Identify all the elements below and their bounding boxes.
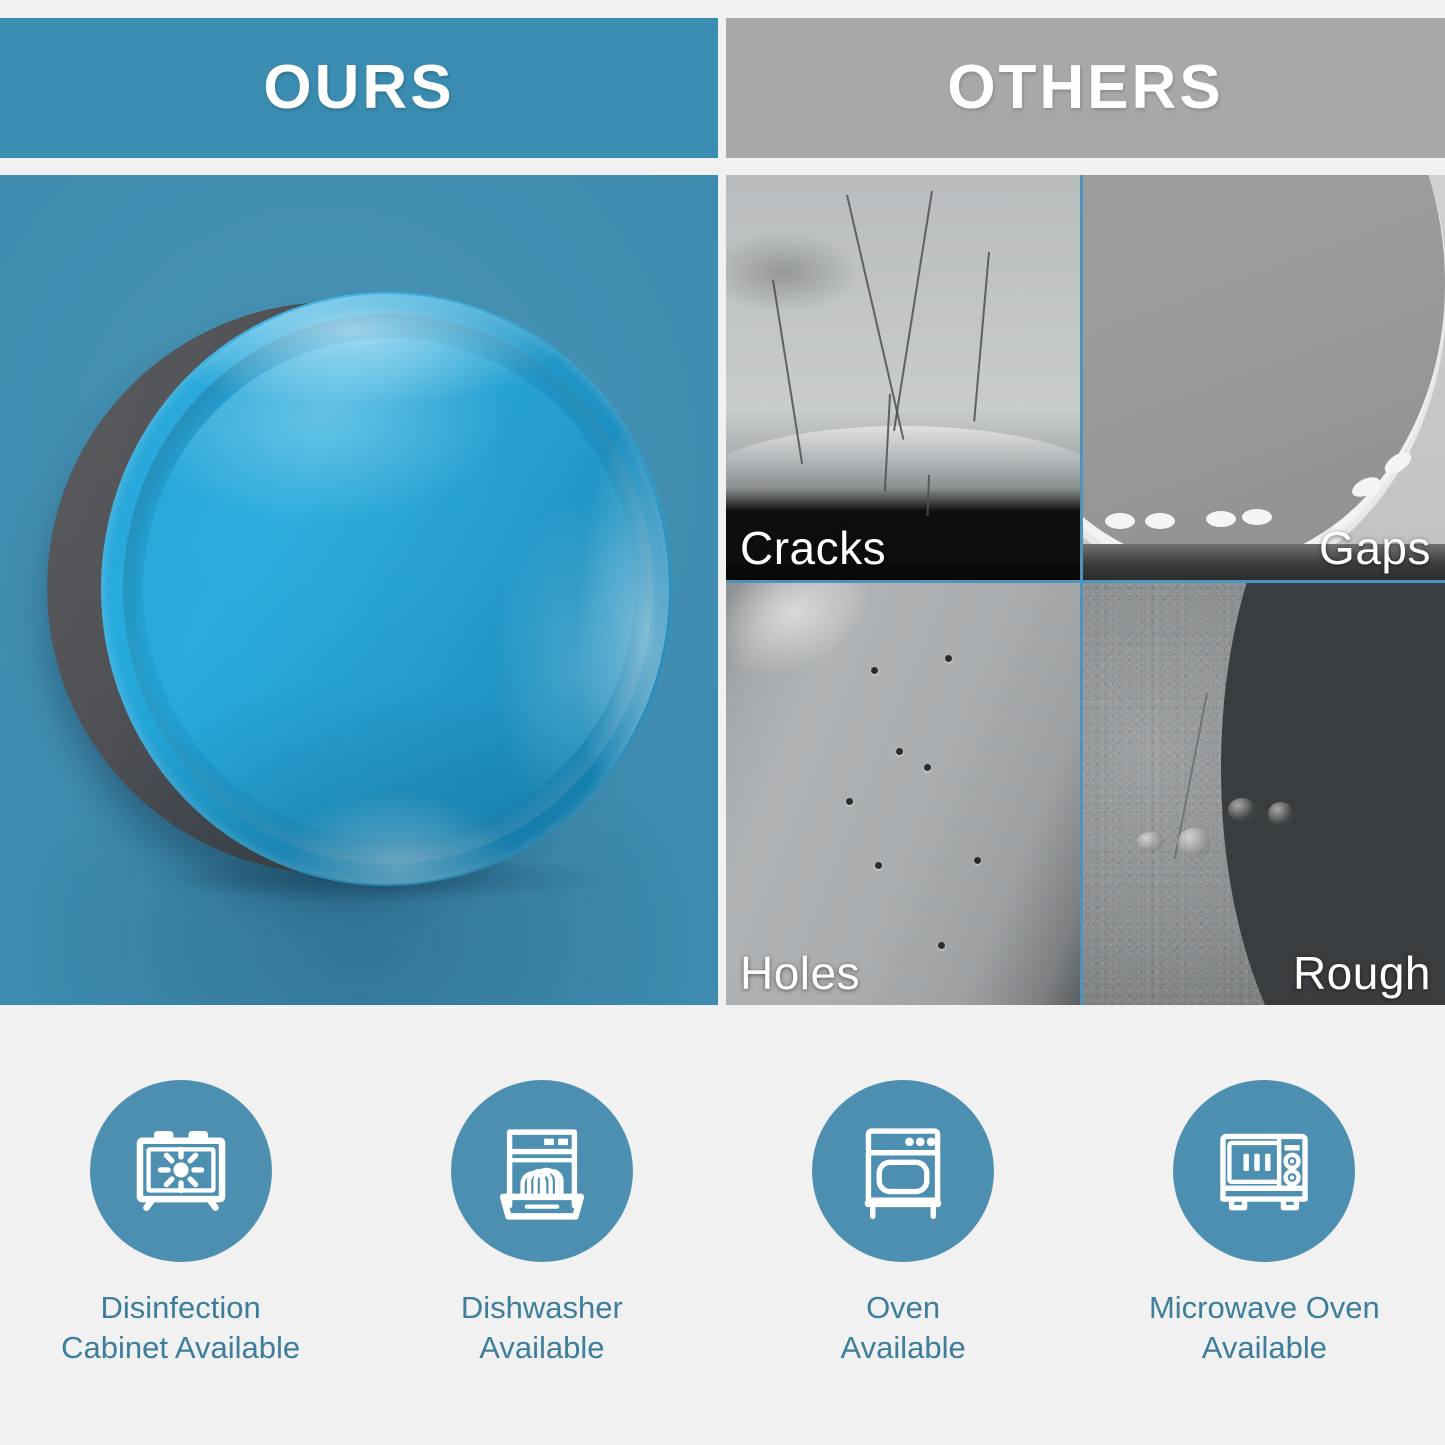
feature-dishwasher: Dishwasher Available: [361, 1080, 722, 1445]
banner-ours: OURS: [0, 18, 718, 158]
rough-bowl-edge: [1221, 583, 1445, 1005]
microwave-oven-icon: [1210, 1117, 1318, 1225]
feature-row: Disinfection Cabinet Available: [0, 1080, 1445, 1445]
banner-others: OTHERS: [726, 18, 1445, 158]
holes-photo: [726, 583, 1080, 1005]
feature-icon-badge: [812, 1080, 994, 1262]
defect-label-rough: Rough: [1293, 949, 1431, 997]
infographic-page: OURS OTHERS Cracks: [0, 0, 1445, 1445]
cracks-photo: [726, 175, 1080, 580]
disinfection-cabinet-icon: [127, 1117, 235, 1225]
defect-label-cracks: Cracks: [740, 524, 886, 572]
gaps-photo: [1083, 175, 1445, 580]
defect-cell-holes: Holes: [726, 583, 1083, 1005]
defect-cell-gaps: Gaps: [1083, 175, 1445, 583]
oven-icon: [849, 1117, 957, 1225]
product-image-panel: [0, 175, 718, 1005]
feature-icon-badge: [451, 1080, 633, 1262]
rough-photo: [1083, 583, 1445, 1005]
pan-floor: [143, 338, 635, 840]
feature-icon-badge: [90, 1080, 272, 1262]
competitor-defect-grid: Cracks Gaps: [726, 175, 1445, 1005]
defect-label-holes: Holes: [740, 949, 860, 997]
defect-label-gaps: Gaps: [1319, 524, 1431, 572]
feature-microwave-oven: Microwave Oven Available: [1084, 1080, 1445, 1445]
dishwasher-icon: [488, 1117, 596, 1225]
feature-label-disinfection-cabinet: Disinfection Cabinet Available: [61, 1288, 300, 1367]
banner-others-label: OTHERS: [947, 57, 1223, 119]
feature-disinfection-cabinet: Disinfection Cabinet Available: [0, 1080, 361, 1445]
feature-oven: Oven Available: [723, 1080, 1084, 1445]
defect-cell-rough: Rough: [1083, 583, 1445, 1005]
feature-label-oven: Oven Available: [841, 1288, 966, 1367]
feature-label-dishwasher: Dishwasher Available: [461, 1288, 623, 1367]
feature-icon-badge: [1173, 1080, 1355, 1262]
product-cake-pan: [39, 284, 679, 896]
banner-ours-label: OURS: [263, 57, 454, 119]
feature-label-microwave-oven: Microwave Oven Available: [1149, 1288, 1380, 1367]
defect-cell-cracks: Cracks: [726, 175, 1083, 583]
